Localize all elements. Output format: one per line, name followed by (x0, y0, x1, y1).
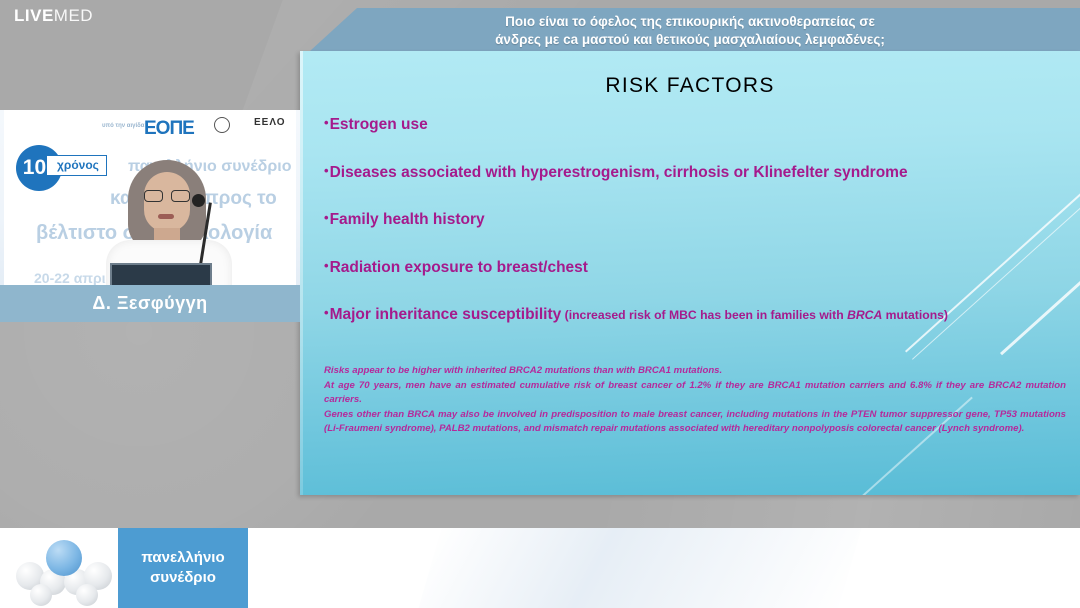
congress-spheres-logo (10, 536, 120, 602)
sphere (30, 584, 52, 606)
list-item-text: Radiation exposure to breast/chest (330, 259, 588, 276)
presentation-slide[interactable]: RISK FACTORS •Estrogen use •Diseases ass… (300, 51, 1080, 495)
congress-tab-line2: συνέδριο (150, 568, 216, 588)
livemed-logo-part1: LIVE (14, 6, 54, 25)
speaker-mouth (158, 214, 174, 219)
session-title: Ποιο είναι το όφελος της επικουρικής ακτ… (300, 13, 1080, 48)
eelo-seal-icon (214, 117, 230, 133)
risk-factor-list: •Estrogen use •Diseases associated with … (324, 113, 1024, 352)
laptop-screen (110, 263, 212, 285)
session-title-line2: άνδρες με ca μαστού και θετικούς μασχαλι… (300, 31, 1080, 49)
list-item-text: Major inheritance susceptibility (330, 306, 562, 323)
list-item-note: (increased risk of MBC has been in famil… (561, 308, 847, 322)
bullet-icon: • (324, 258, 329, 273)
microphone-icon (192, 194, 205, 207)
anniversary-number: 10 (23, 156, 46, 180)
list-item-text: Estrogen use (330, 116, 428, 133)
congress-tab: πανελλήνιο συνέδριο (118, 528, 248, 608)
livemed-logo: LIVEMED (14, 6, 93, 26)
slide-note-paragraph: Risks appear to be higher with inherited… (324, 364, 1066, 379)
bullet-icon: • (324, 163, 329, 178)
list-item-gene: BRCA (847, 308, 882, 322)
list-item-text: Family health history (330, 211, 485, 228)
session-title-banner: Ποιο είναι το όφελος της επικουρικής ακτ… (300, 8, 1080, 51)
bullet-icon: • (324, 210, 329, 225)
eope-logo-text: ΕΟΠΕ (144, 118, 194, 140)
screen-root: LIVEMED Ποιο είναι το όφελος της επικουρ… (0, 0, 1080, 608)
speaker-name-bar: Δ. Ξεσφύγγη (0, 285, 300, 322)
slide-note-paragraph: Genes other than BRCA may also be involv… (324, 408, 1066, 437)
video-frame: υπό την αιγίδα ΕΟΠΕ ΕΕΛΟ 10ος χρόνος παν… (4, 110, 296, 285)
bullet-icon: • (324, 305, 329, 320)
anniversary-word: χρόνος (46, 155, 107, 176)
list-item: •Diseases associated with hyperestrogeni… (324, 161, 1024, 182)
sphere (76, 584, 98, 606)
slide-heading: RISK FACTORS (300, 74, 1080, 98)
list-item: •Radiation exposure to breast/chest (324, 256, 1024, 277)
list-item: •Major inheritance susceptibility (incre… (324, 303, 1024, 325)
slide-notes: Risks appear to be higher with inherited… (324, 364, 1066, 437)
bullet-icon: • (324, 115, 329, 130)
slide-note-paragraph: At age 70 years, men have an estimated c… (324, 379, 1066, 408)
list-item: •Family health history (324, 208, 1024, 229)
list-item-text: Diseases associated with hyperestrogenis… (330, 164, 908, 181)
congress-tab-line1: πανελλήνιο (141, 548, 224, 568)
sphere-highlight (46, 540, 82, 576)
footer-sheen (413, 528, 867, 608)
glasses-icon (144, 190, 190, 202)
speaker-face (144, 172, 190, 232)
speaker-name: Δ. Ξεσφύγγη (92, 293, 207, 314)
session-title-line1: Ποιο είναι το όφελος της επικουρικής ακτ… (300, 13, 1080, 31)
eelo-logo-text: ΕΕΛΟ (254, 117, 286, 128)
backdrop-aegis-text: υπό την αιγίδα (102, 123, 144, 129)
slide-left-edge (300, 51, 303, 495)
livemed-logo-part2: MED (54, 6, 93, 25)
list-item: •Estrogen use (324, 113, 1024, 134)
list-item-note-tail: mutations) (882, 308, 948, 322)
speaker-video[interactable]: υπό την αιγίδα ΕΟΠΕ ΕΕΛΟ 10ος χρόνος παν… (0, 110, 300, 285)
